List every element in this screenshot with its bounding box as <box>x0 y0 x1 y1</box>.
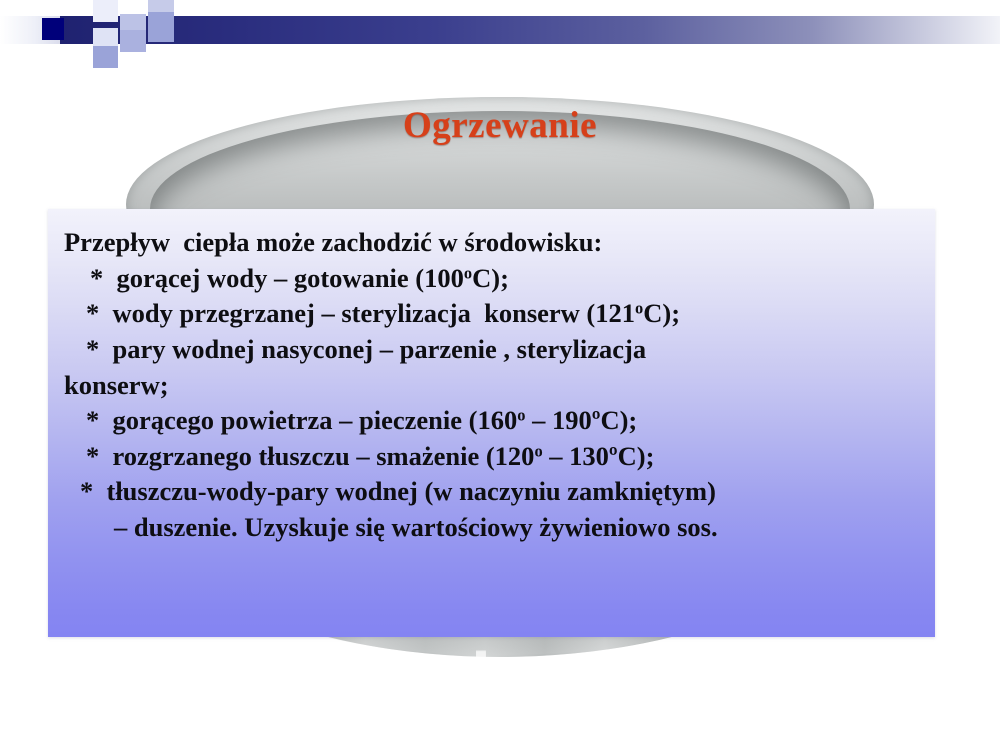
slide-header-decoration <box>0 0 1000 62</box>
presentation-slide: Ogrzewanie wedlinydomowe.pl Przepływ cie… <box>0 0 1000 750</box>
body-intro-line: Przepływ ciepła może zachodzić w środowi… <box>64 225 917 261</box>
header-square-low <box>93 46 118 68</box>
body-line: * rozgrzanego tłuszczu – smażenie (120o … <box>64 439 917 475</box>
body-line: * gorącego powietrza – pieczenie (160o –… <box>64 403 917 439</box>
header-square-navy <box>42 18 64 40</box>
body-line: konserw; <box>64 368 917 404</box>
slide-title: Ogrzewanie <box>0 104 1000 147</box>
header-square-light-upper <box>93 0 118 22</box>
degree-superscript: o <box>464 263 472 282</box>
body-text-content: Przepływ ciepła może zachodzić w środowi… <box>48 209 935 546</box>
body-line: * pary wodnej nasyconej – parzenie , ste… <box>64 332 917 368</box>
body-line: * tłuszczu-wody-pary wodnej (w naczyniu … <box>64 474 917 510</box>
header-square-mid-lower <box>120 30 146 52</box>
body-bullet-lines: * gorącej wody – gotowanie (100oC);* wod… <box>64 261 917 546</box>
body-line: * gorącej wody – gotowanie (100oC); <box>64 261 917 297</box>
header-square-tall <box>148 12 174 42</box>
body-line: – duszenie. Uzyskuje się wartościowy żyw… <box>64 510 917 546</box>
degree-superscript: o <box>534 441 542 460</box>
body-text-box: Przepływ ciepła może zachodzić w środowi… <box>48 209 935 637</box>
header-gradient-bar <box>60 16 1000 44</box>
site-watermark: wedlinydomowe.pl <box>0 642 1000 707</box>
body-line: * wody przegrzanej – sterylizacja konser… <box>64 296 917 332</box>
degree-superscript: o <box>517 406 525 425</box>
degree-superscript: o <box>635 299 643 318</box>
